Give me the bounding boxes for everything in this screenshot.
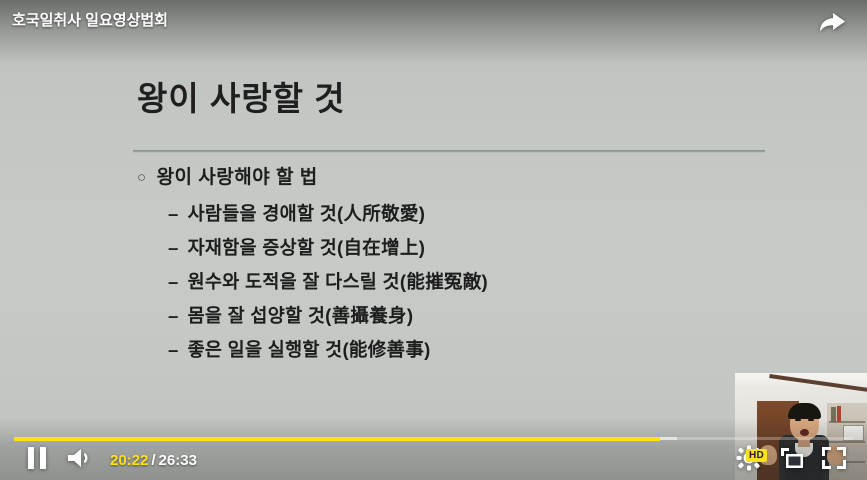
duration: 26:33 — [159, 452, 197, 469]
volume-button[interactable] — [64, 445, 96, 471]
bullet-dash-icon: – — [168, 302, 179, 329]
picture-in-picture-icon — [779, 446, 805, 470]
list-item: – 원수와 도적을 잘 다스릴 것(能摧冤敵) — [168, 268, 817, 295]
camera-person-eye — [808, 419, 814, 421]
volume-icon — [65, 446, 95, 470]
list-item-label: 사람들을 경애할 것(人所敬愛) — [188, 200, 426, 227]
slide-bullet-list: ○ 왕이 사랑해야 할 법 – 사람들을 경애할 것(人所敬愛) – 자재함을 … — [137, 165, 817, 370]
list-item-label: 자재함을 증상할 것(自在增上) — [188, 234, 426, 261]
list-item: – 좋은 일을 실행할 것(能修善事) — [168, 336, 817, 363]
pause-bar-left — [28, 447, 34, 469]
list-item-label: 좋은 일을 실행할 것(能修善事) — [188, 336, 431, 363]
time-separator: / — [151, 452, 155, 469]
bullet-dash-icon: – — [168, 200, 179, 227]
picture-in-picture-button[interactable] — [776, 444, 808, 472]
bullet-dash-icon: – — [168, 336, 179, 363]
pause-bar-right — [40, 447, 46, 469]
quality-badge[interactable]: HD — [746, 449, 767, 462]
slide-title: 왕이 사랑할 것 — [137, 72, 346, 120]
video-title: 호국일취사 일요영상법회 — [12, 9, 168, 30]
camera-book — [831, 407, 836, 422]
fullscreen-icon — [821, 446, 847, 470]
bullet-dash-icon: – — [168, 234, 179, 261]
player-controls[interactable]: 20:22/26:33 HD — [0, 436, 867, 480]
list-item: – 몸을 잘 섭양할 것(善攝養身) — [168, 302, 817, 329]
camera-person-hair — [788, 403, 821, 419]
share-button[interactable] — [813, 8, 851, 38]
fullscreen-button[interactable] — [818, 444, 850, 472]
camera-book — [837, 406, 841, 422]
pause-button[interactable] — [22, 444, 52, 472]
list-item: – 사람들을 경애할 것(人所敬愛) — [168, 200, 817, 227]
current-time: 20:22 — [110, 452, 148, 469]
list-item: ○ 왕이 사랑해야 할 법 — [137, 165, 817, 191]
list-item-label: 원수와 도적을 잘 다스릴 것(能摧冤敵) — [188, 268, 488, 295]
video-player[interactable]: 왕이 사랑할 것 ○ 왕이 사랑해야 할 법 – 사람들을 경애할 것(人所敬愛… — [0, 0, 867, 480]
bullet-dash-icon: – — [168, 268, 179, 295]
camera-person-eye — [795, 419, 801, 421]
list-item: – 자재함을 증상할 것(自在增上) — [168, 234, 817, 261]
share-arrow-icon — [813, 8, 851, 38]
list-item-label: 몸을 잘 섭양할 것(善攝養身) — [188, 302, 414, 329]
bullet-circle-icon: ○ — [137, 165, 147, 191]
list-item-label: 왕이 사랑해야 할 법 — [157, 165, 318, 191]
slide-title-divider — [133, 150, 765, 153]
time-display: 20:22/26:33 — [110, 452, 197, 469]
